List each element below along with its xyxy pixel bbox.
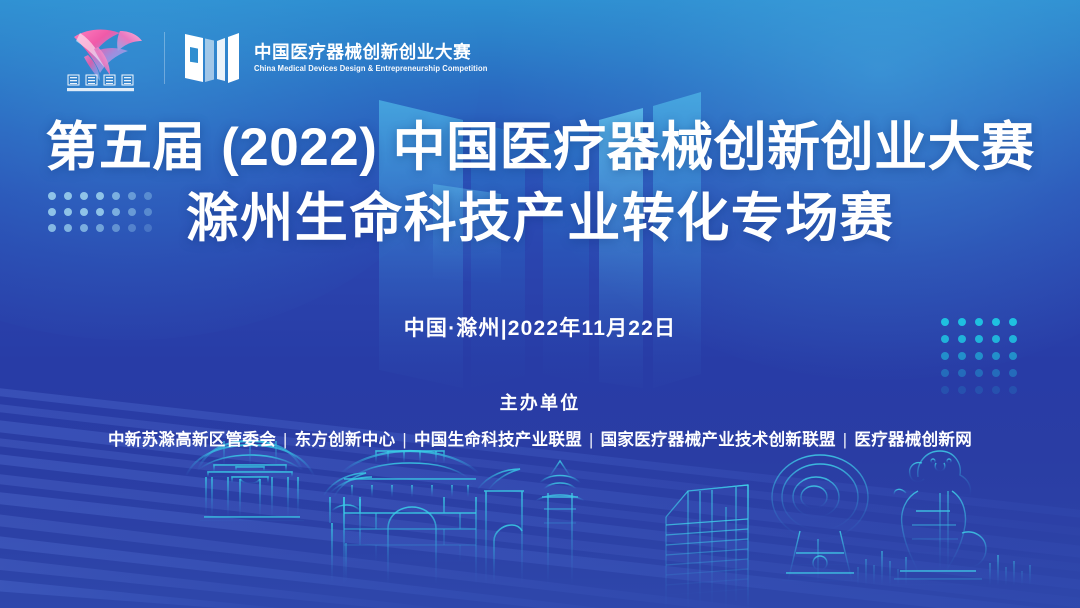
event-poster: 中国医疗器械创新创业大赛 China Medical Devices Desig… (0, 0, 1080, 608)
event-date-location: 中国·滁州|2022年11月22日 (0, 312, 1080, 342)
organizers-heading: 主办单位 (0, 389, 1080, 415)
city-skyline-illustration (0, 433, 1080, 608)
organizer-separator: | (582, 431, 601, 449)
organizer-name: 中新苏滁高新区管委会 (108, 431, 276, 449)
organizer-name: 中国生命科技产业联盟 (414, 431, 582, 449)
poster-title-line-1: 第五届 (2022) 中国医疗器械创新创业大赛 (0, 118, 1080, 177)
title-block: 第五届 (2022) 中国医疗器械创新创业大赛 滁州生命科技产业转化专场赛 (0, 118, 1080, 249)
competition-logo-group: 中国医疗器械创新创业大赛 China Medical Devices Desig… (183, 29, 487, 87)
cmdde-door-logo (183, 29, 241, 87)
organizer-name: 东方创新中心 (295, 431, 396, 449)
organizer-separator: | (276, 431, 295, 449)
organizer-separator: | (836, 431, 855, 449)
organizer-separator: | (395, 431, 414, 449)
poster-title-line-2: 滁州生命科技产业转化专场赛 (0, 189, 1080, 248)
competition-name-cn: 中国医疗器械创新创业大赛 (254, 43, 487, 61)
organizer-name: 国家医疗器械产业技术创新联盟 (601, 431, 836, 449)
organizer-name: 医疗器械创新网 (854, 431, 972, 449)
organizers-list: 中新苏滁高新区管委会|东方创新中心|中国生命科技产业联盟|国家医疗器械产业技术创… (0, 426, 1080, 450)
innovation-china-bird-logo (58, 23, 146, 93)
competition-name-en: China Medical Devices Design & Entrepren… (254, 64, 487, 74)
header-logo-bar: 中国医疗器械创新创业大赛 China Medical Devices Desig… (58, 22, 487, 94)
header-divider (164, 32, 165, 84)
